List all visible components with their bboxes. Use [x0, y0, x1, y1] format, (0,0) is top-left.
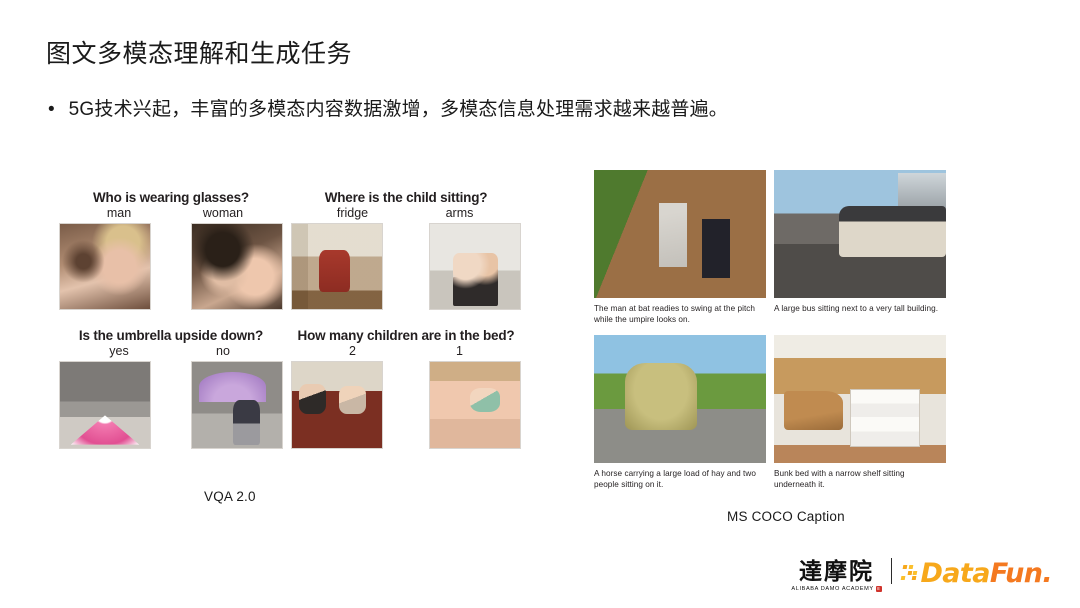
vqa-grid: Who is wearing glasses? man woman Where … [55, 190, 525, 466]
coco-caption: A large bus sitting next to a very tall … [774, 303, 946, 314]
vqa-example-1: Who is wearing glasses? man woman [55, 190, 287, 328]
vqa-question: Where is the child sitting? [287, 190, 525, 205]
vqa-figure: Who is wearing glasses? man woman Where … [55, 190, 525, 465]
bullet-text: 5G技术兴起，丰富的多模态内容数据激增，多模态信息处理需求越来越普遍。 [69, 96, 728, 124]
vqa-answers: man woman [55, 206, 287, 220]
large-bus-photo [774, 170, 946, 298]
vqa-question: How many children are in the bed? [287, 328, 525, 343]
vqa-dataset-label: VQA 2.0 [204, 489, 256, 504]
datafun-logo: Data Fun. [902, 560, 1052, 587]
vqa-answers: yes no [55, 344, 287, 358]
one-child-in-bed-photo [429, 361, 521, 449]
coco-example-1: The man at bat readies to swing at the p… [594, 170, 766, 325]
vqa-question: Who is wearing glasses? [55, 190, 287, 205]
coco-grid: The man at bat readies to swing at the p… [594, 170, 946, 490]
vqa-answers: 2 1 [287, 344, 525, 358]
vqa-example-2: Where is the child sitting? fridge arms [287, 190, 525, 328]
upside-down-umbrella-photo [59, 361, 151, 449]
vqa-answer-right: 1 [406, 344, 513, 358]
baseball-batter-photo [594, 170, 766, 298]
person-under-umbrella-photo [191, 361, 283, 449]
vqa-example-3: Is the umbrella upside down? yes no [55, 328, 287, 466]
two-children-in-bed-photo [291, 361, 383, 449]
coco-example-2: A large bus sitting next to a very tall … [774, 170, 946, 325]
coco-caption: The man at bat readies to swing at the p… [594, 303, 766, 325]
footer-logo: 達摩院 ALIBABA DAMO ACADEMY 8 Data Fun. [791, 554, 1052, 596]
woman-with-glasses-photo [191, 223, 283, 310]
logo-divider [891, 558, 893, 584]
vqa-answer-right: woman [171, 206, 275, 220]
vqa-image-pair [287, 223, 525, 310]
vqa-answer-left: yes [67, 344, 171, 358]
vqa-example-4: How many children are in the bed? 2 1 [287, 328, 525, 466]
bullet-marker-icon: • [48, 96, 55, 124]
damo-logo-chinese: 達摩院 [799, 559, 874, 584]
vqa-answer-left: 2 [299, 344, 406, 358]
datafun-dots-icon [901, 565, 919, 580]
coco-caption: Bunk bed with a narrow shelf sitting und… [774, 468, 946, 490]
child-in-arms-photo [429, 223, 521, 310]
datafun-logo-primary: Data [920, 560, 989, 587]
vqa-question: Is the umbrella upside down? [55, 328, 287, 343]
horse-hay-cart-photo [594, 335, 766, 463]
bullet-item: • 5G技术兴起，丰富的多模态内容数据激增，多模态信息处理需求越来越普遍。 [48, 96, 728, 124]
vqa-answer-left: man [67, 206, 171, 220]
damo-academy-logo: 達摩院 ALIBABA DAMO ACADEMY 8 [791, 559, 881, 592]
man-with-glasses-photo [59, 223, 151, 310]
damo-logo-mark-icon: 8 [876, 586, 882, 592]
vqa-image-pair [55, 223, 287, 310]
vqa-image-pair [55, 361, 287, 449]
coco-example-4: Bunk bed with a narrow shelf sitting und… [774, 335, 946, 490]
datafun-logo-secondary: Fun. [990, 560, 1052, 587]
vqa-answers: fridge arms [287, 206, 525, 220]
coco-caption: A horse carrying a large load of hay and… [594, 468, 766, 490]
coco-example-3: A horse carrying a large load of hay and… [594, 335, 766, 490]
coco-dataset-label: MS COCO Caption [727, 509, 845, 524]
vqa-image-pair [287, 361, 525, 449]
vqa-answer-left: fridge [299, 206, 406, 220]
coco-figure: The man at bat readies to swing at the p… [594, 170, 946, 490]
child-in-fridge-photo [291, 223, 383, 310]
damo-logo-english: ALIBABA DAMO ACADEMY [791, 586, 873, 592]
vqa-answer-right: no [171, 344, 275, 358]
page-title: 图文多模态理解和生成任务 [46, 38, 352, 70]
bunk-bed-photo [774, 335, 946, 463]
damo-logo-english-row: ALIBABA DAMO ACADEMY 8 [791, 586, 881, 592]
vqa-answer-right: arms [406, 206, 513, 220]
